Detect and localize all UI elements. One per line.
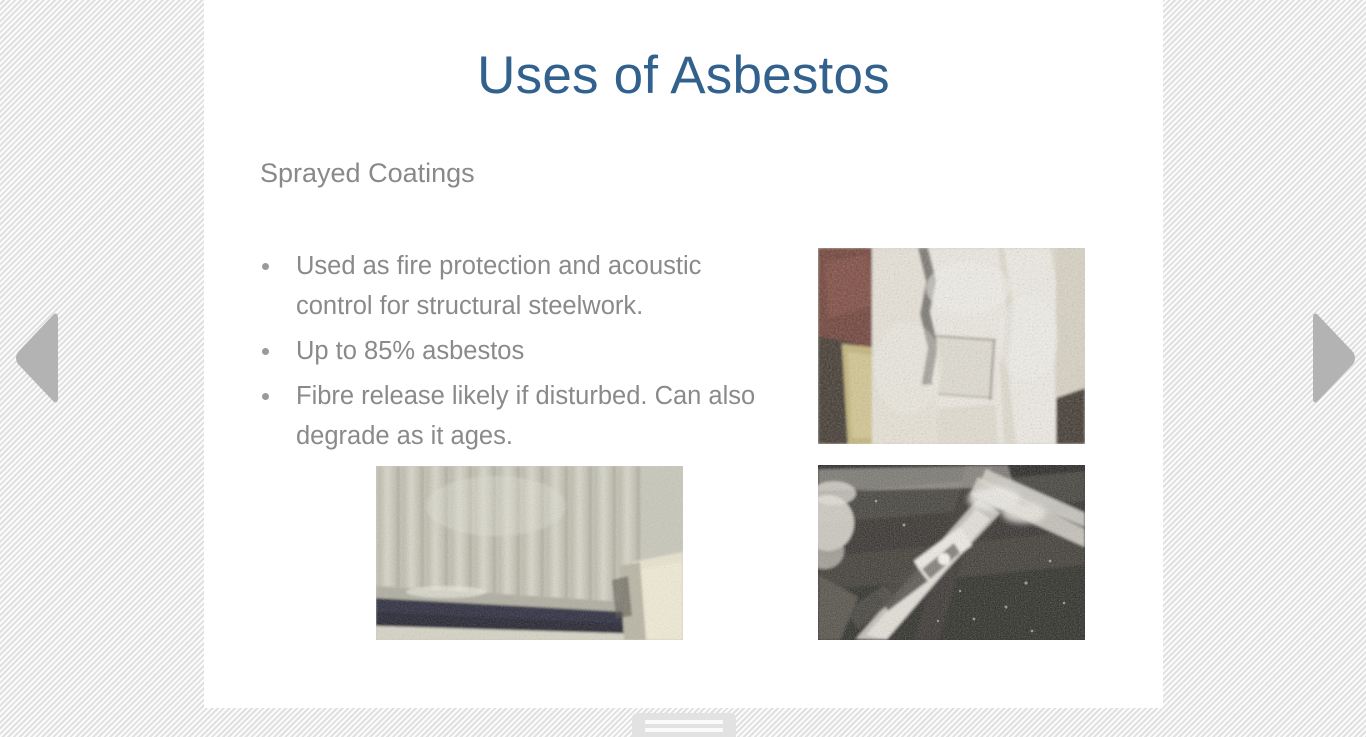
next-slide-button[interactable] — [1305, 306, 1361, 410]
bullet-list: Used as fire protection and acoustic con… — [254, 246, 764, 461]
grip-line-icon — [645, 720, 723, 724]
list-item-label: Fibre release likely if disturbed. Can a… — [296, 376, 764, 456]
photo-corrugated-soffit-image — [376, 466, 683, 640]
bullet-dot-icon — [262, 263, 269, 270]
page-title: Uses of Asbestos — [204, 45, 1163, 107]
triangle-right-icon[interactable] — [1305, 306, 1361, 410]
slide-subheading: Sprayed Coatings — [260, 156, 475, 190]
slide-viewer: Uses of Asbestos Sprayed Coatings Used a… — [0, 0, 1366, 737]
bullet-dot-icon — [262, 348, 269, 355]
grip-line-icon — [645, 728, 723, 732]
photo-spray-application — [818, 465, 1085, 640]
list-item: Fibre release likely if disturbed. Can a… — [254, 376, 764, 456]
list-item-label: Up to 85% asbestos — [296, 331, 764, 371]
slide-canvas[interactable]: Uses of Asbestos Sprayed Coatings Used a… — [204, 0, 1163, 708]
list-item: Up to 85% asbestos — [254, 331, 764, 371]
list-item: Used as fire protection and acoustic con… — [254, 246, 764, 326]
triangle-left-icon[interactable] — [10, 306, 66, 410]
bullet-dot-icon — [262, 393, 269, 400]
photo-spray-application-image — [818, 465, 1085, 640]
photo-spray-coated-steel — [818, 248, 1085, 444]
list-item-label: Used as fire protection and acoustic con… — [296, 246, 764, 326]
photo-corrugated-soffit — [376, 466, 683, 640]
drag-handle[interactable] — [632, 713, 736, 737]
photo-spray-coated-steel-image — [818, 248, 1085, 444]
previous-slide-button[interactable] — [10, 306, 66, 410]
